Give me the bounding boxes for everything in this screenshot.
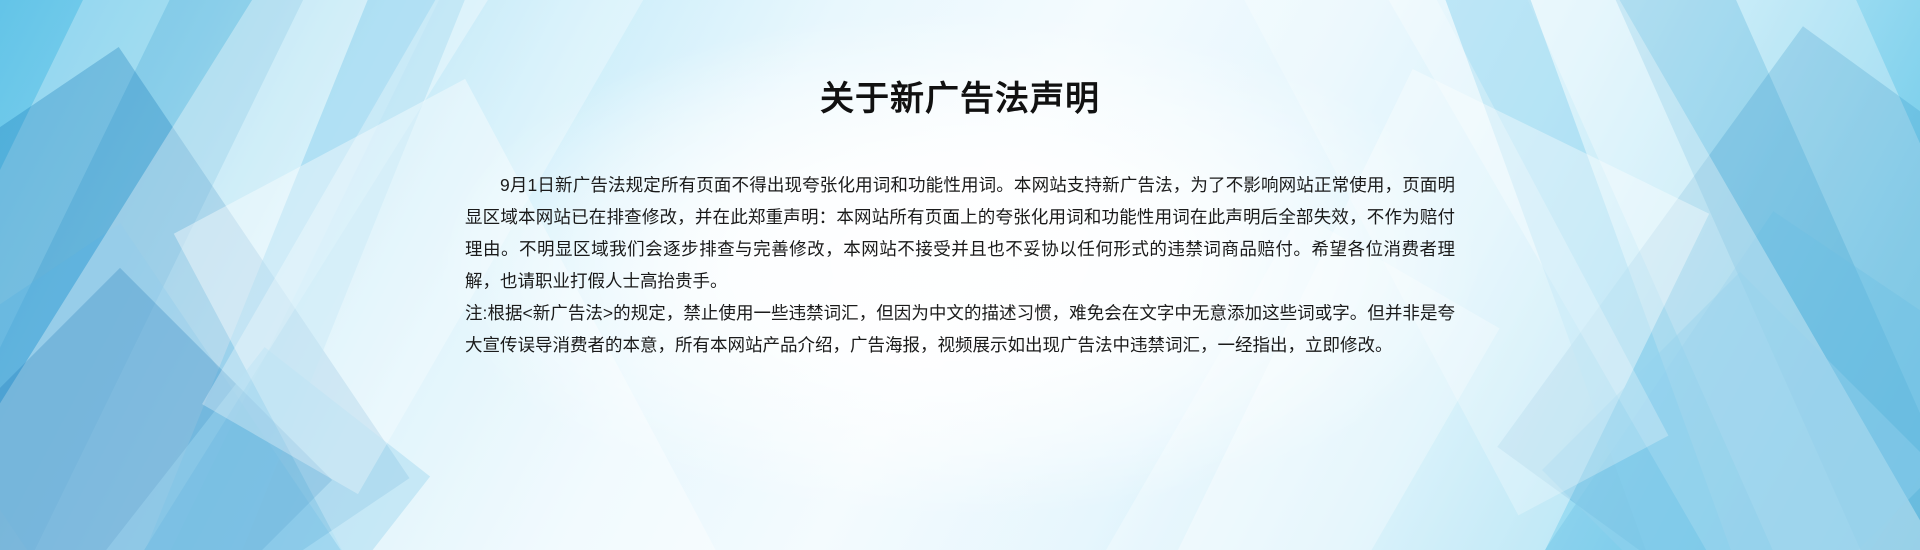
announcement-content: 关于新广告法声明 9月1日新广告法规定所有页面不得出现夸张化用词和功能性用词。本…	[0, 0, 1920, 550]
announcement-banner: 关于新广告法声明 9月1日新广告法规定所有页面不得出现夸张化用词和功能性用词。本…	[0, 0, 1920, 550]
announcement-paragraph-2: 注:根据<新广告法>的规定，禁止使用一些违禁词汇，但因为中文的描述习惯，难免会在…	[465, 297, 1455, 361]
announcement-paragraph-1: 9月1日新广告法规定所有页面不得出现夸张化用词和功能性用词。本网站支持新广告法，…	[465, 169, 1455, 297]
announcement-body: 9月1日新广告法规定所有页面不得出现夸张化用词和功能性用词。本网站支持新广告法，…	[465, 169, 1455, 361]
page-title: 关于新广告法声明	[820, 82, 1100, 116]
